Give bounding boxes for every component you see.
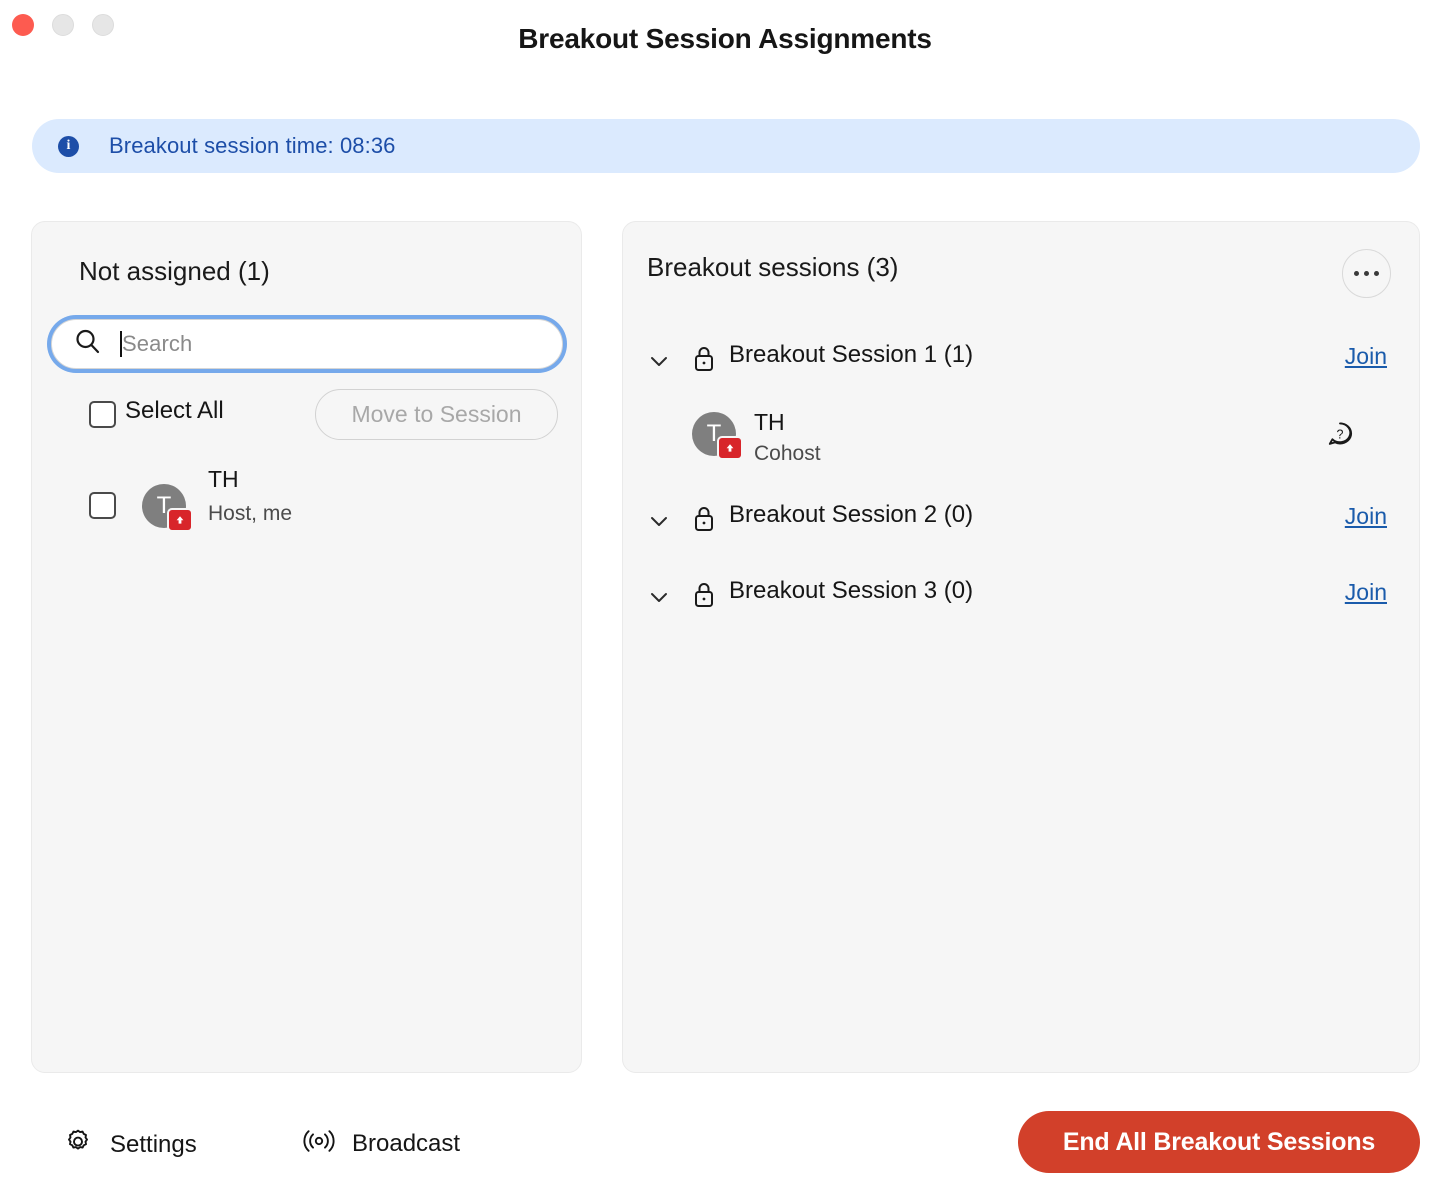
select-all-checkbox[interactable] <box>89 401 116 428</box>
join-session-link[interactable]: Join <box>1345 343 1387 370</box>
avatar: T <box>142 484 186 528</box>
session-name: Breakout Session 3 (0) <box>729 577 973 605</box>
page-title: Breakout Session Assignments <box>0 23 1450 55</box>
settings-label: Settings <box>110 1131 197 1159</box>
settings-button[interactable]: Settings <box>62 1126 197 1163</box>
join-session-link[interactable]: Join <box>1345 579 1387 606</box>
not-assigned-panel: Not assigned (1) Search Select All Move … <box>31 221 582 1073</box>
session-name: Breakout Session 1 (1) <box>729 341 973 369</box>
member-role: Cohost <box>754 442 821 466</box>
not-assigned-title: Not assigned (1) <box>79 256 270 287</box>
join-session-link[interactable]: Join <box>1345 503 1387 530</box>
breakout-timer-banner: i Breakout session time: 08:36 <box>32 119 1420 173</box>
end-all-breakout-sessions-button[interactable]: End All Breakout Sessions <box>1018 1111 1420 1173</box>
session-member-row[interactable]: T TH Cohost ? <box>623 412 1419 472</box>
session-row-1[interactable]: Breakout Session 1 (1) Join <box>623 339 1419 383</box>
chevron-down-icon[interactable] <box>647 585 671 614</box>
ask-for-help-icon[interactable]: ? <box>1326 420 1354 453</box>
chevron-down-icon[interactable] <box>647 349 671 378</box>
gear-icon <box>62 1126 94 1163</box>
search-icon <box>74 328 101 360</box>
screen-share-badge <box>167 508 193 532</box>
search-placeholder: Search <box>122 331 192 357</box>
select-all-row: Select All Move to Session <box>32 389 581 439</box>
broadcast-label: Broadcast <box>352 1130 460 1158</box>
breakout-timer-text: Breakout session time: 08:36 <box>109 133 396 159</box>
title-bar: Breakout Session Assignments <box>0 0 1450 86</box>
breakout-sessions-title: Breakout sessions (3) <box>647 252 898 283</box>
session-name: Breakout Session 2 (0) <box>729 501 973 529</box>
screen-share-badge <box>717 436 743 460</box>
dot <box>1364 271 1369 276</box>
participant-name: TH <box>208 466 239 493</box>
dot <box>1374 271 1379 276</box>
move-to-session-button[interactable]: Move to Session <box>315 389 558 440</box>
lock-icon <box>691 504 717 539</box>
more-options-icon[interactable] <box>1342 249 1391 298</box>
svg-text:?: ? <box>1337 428 1344 442</box>
participant-role: Host, me <box>208 502 292 526</box>
broadcast-icon <box>302 1126 336 1161</box>
avatar: T <box>692 412 736 456</box>
search-field[interactable]: Search <box>51 319 563 369</box>
member-name: TH <box>754 409 785 436</box>
list-item[interactable]: T TH Host, me <box>32 474 581 538</box>
session-row-3[interactable]: Breakout Session 3 (0) Join <box>623 575 1419 619</box>
broadcast-button[interactable]: Broadcast <box>302 1126 460 1161</box>
select-all-label: Select All <box>125 397 224 425</box>
participant-checkbox[interactable] <box>89 492 116 519</box>
session-row-2[interactable]: Breakout Session 2 (0) Join <box>623 499 1419 543</box>
lock-icon <box>691 580 717 615</box>
info-icon: i <box>58 136 79 157</box>
dot <box>1354 271 1359 276</box>
lock-icon <box>691 344 717 379</box>
chevron-down-icon[interactable] <box>647 509 671 538</box>
breakout-sessions-panel: Breakout sessions (3) Breakout Session 1… <box>622 221 1420 1073</box>
